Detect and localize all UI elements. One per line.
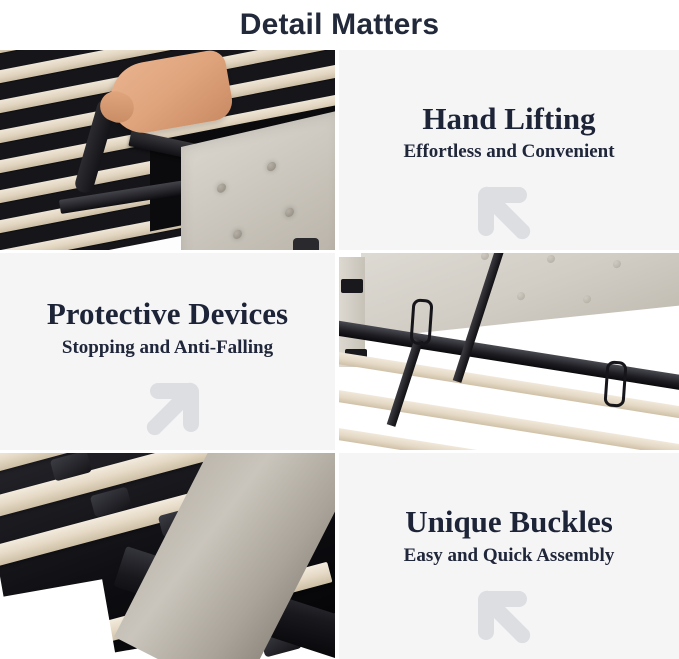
protective-devices-text-cell: Protective Devices Stopping and Anti-Fal…	[0, 253, 339, 453]
wire-stopper	[603, 360, 627, 407]
hand-lifting-photo-cell	[0, 50, 339, 253]
page-title: Detail Matters	[240, 10, 440, 40]
hand-lifting-photo	[0, 50, 335, 250]
unique-buckles-photo	[0, 453, 335, 659]
arrow-up-right-icon	[131, 370, 205, 444]
unique-buckles-text-cell: Unique Buckles Easy and Quick Assembly	[339, 453, 679, 659]
infographic-header: Detail Matters	[0, 0, 679, 50]
bed-foot	[293, 238, 319, 253]
unique-buckles-heading: Unique Buckles	[405, 506, 613, 539]
hand-lifting-heading: Hand Lifting	[422, 103, 595, 136]
unique-buckles-subheading: Easy and Quick Assembly	[404, 546, 615, 567]
hand-lifting-subheading: Effortless and Convenient	[403, 142, 614, 163]
unique-buckles-photo-cell	[0, 453, 339, 659]
frame-bracket	[341, 279, 363, 293]
protective-devices-subheading: Stopping and Anti-Falling	[62, 338, 273, 359]
hand-lifting-text-cell: Hand Lifting Effortless and Convenient	[339, 50, 679, 253]
protective-devices-photo	[339, 253, 679, 450]
protective-devices-photo-cell	[339, 253, 679, 453]
tufted-headboard	[361, 253, 679, 339]
arrow-up-left-icon	[472, 578, 546, 652]
feature-grid: Hand Lifting Effortless and Convenient P…	[0, 50, 679, 659]
protective-devices-heading: Protective Devices	[47, 298, 288, 331]
wire-stopper	[409, 298, 433, 345]
arrow-up-left-icon	[472, 174, 546, 248]
detail-matters-infographic: Detail Matters	[0, 0, 679, 659]
